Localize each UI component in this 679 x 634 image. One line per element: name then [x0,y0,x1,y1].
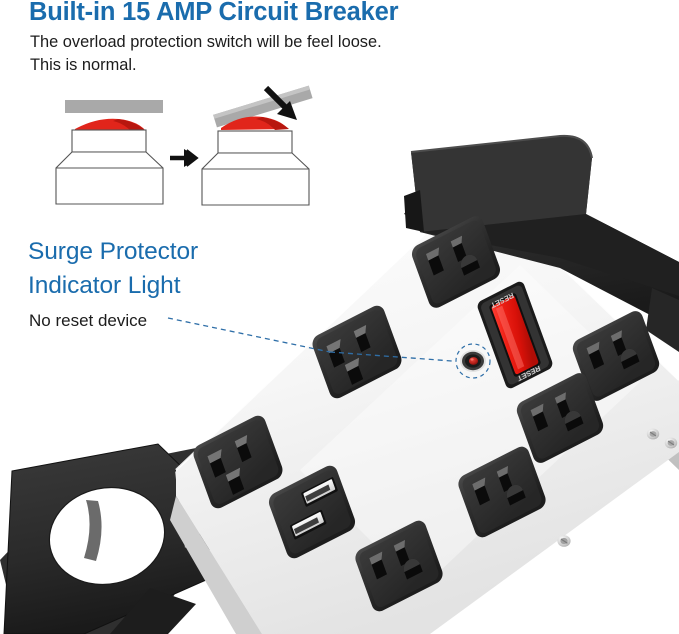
product-feature-image: RESET RESET [0,0,679,634]
led-highlight-ring [456,344,490,378]
callout-title-line-1: Surge Protector [28,238,198,266]
feature-headline: Built-in 15 AMP Circuit Breaker [29,0,398,27]
feature-body-line-1: The overload protection switch will be f… [30,33,382,52]
callout-subtitle: No reset device [29,311,147,331]
callout-title-line-2: Indicator Light [28,272,180,300]
feature-body-line-2: This is normal. [30,56,137,75]
